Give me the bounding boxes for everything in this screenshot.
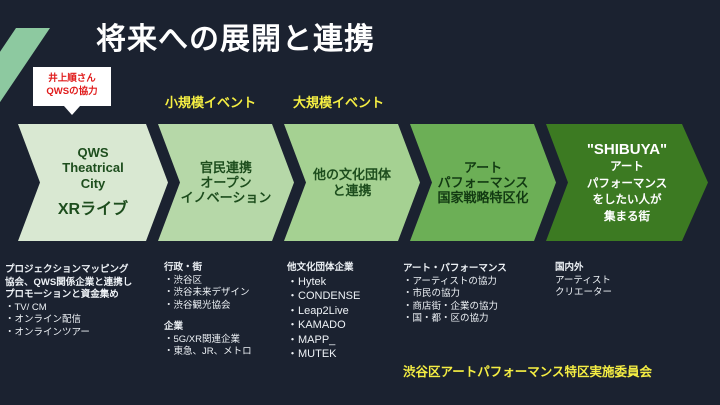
global-line-3: クリエーター xyxy=(555,287,612,300)
list-item: ・KAMADO xyxy=(287,318,360,333)
flow-step-5-line3: パフォーマンス xyxy=(587,178,667,192)
projection-heading-line1: プロジェクションマッピング xyxy=(5,264,132,277)
global-heading: 国内外 xyxy=(555,262,612,275)
flow-step-5-line1: "SHIBUYA" xyxy=(587,141,667,159)
callout-line-2: QWSの協力 xyxy=(37,86,107,99)
companies-heading: 企業 xyxy=(164,321,252,334)
flow-step-1-line2: Theatrical xyxy=(62,160,123,175)
flow-step-cultural-collaboration[interactable]: 他の文化団体 と連携 xyxy=(284,124,420,241)
art-performance-heading: アート・パフォーマンス xyxy=(403,263,507,276)
detail-column-projection-mapping: プロジェクションマッピング 協会、QWS関係企業と連携し プロモーションと資金集… xyxy=(5,264,132,339)
flow-step-5-line5: 集まる街 xyxy=(604,211,650,225)
process-flow: QWS Theatrical City XRライブ 官民連携 オープン イノベー… xyxy=(18,124,708,241)
flow-step-2-line2: オープン xyxy=(200,175,251,190)
list-item: ・オンラインツアー xyxy=(5,327,132,340)
slide-canvas: 将来への展開と連携 小規模イベント 大規模イベント QWS Theatrical… xyxy=(0,0,720,405)
list-item: ・Hytek xyxy=(287,275,360,290)
detail-column-government-and-town: 行政・街 ・渋谷区 ・渋谷未来デザイン ・渋谷観光協会 企業 ・5G/XR関連企… xyxy=(164,262,252,359)
flow-step-5-line4: をしたい人が xyxy=(593,194,662,208)
detail-column-domestic-and-overseas: 国内外 アーティスト クリエーター xyxy=(555,262,612,300)
projection-heading-line2: 協会、QWS関係企業と連携し xyxy=(5,277,132,290)
list-item: ・CONDENSE xyxy=(287,289,360,304)
flow-step-qws-theatrical-city[interactable]: QWS Theatrical City XRライブ xyxy=(18,124,168,241)
list-item: ・市民の協力 xyxy=(403,288,507,301)
flow-step-3-line1: 他の文化団体 xyxy=(313,167,391,182)
global-line-2: アーティスト xyxy=(555,275,612,288)
flow-step-art-performance-zone[interactable]: アート パフォーマンス 国家戦略特区化 xyxy=(410,124,556,241)
callout-line-1: 井上順さん xyxy=(37,73,107,86)
flow-step-shibuya-goal[interactable]: "SHIBUYA" アート パフォーマンス をしたい人が 集まる街 xyxy=(546,124,708,241)
detail-column-cultural-companies: 他文化団体企業 ・Hytek ・CONDENSE ・Leap2Live ・KAM… xyxy=(287,262,360,362)
callout-box-inoue-qws: 井上順さん QWSの協力 xyxy=(33,67,111,106)
page-title: 将来への展開と連携 xyxy=(96,14,375,58)
list-item: ・商店街・企業の協力 xyxy=(403,301,507,314)
event-label-large: 大規模イベント xyxy=(293,92,384,111)
flow-step-1-sub: XRライブ xyxy=(58,201,128,220)
list-item: ・東急、JR、メトロ xyxy=(164,346,252,359)
event-label-small: 小規模イベント xyxy=(165,92,256,111)
list-item: ・渋谷未来デザイン xyxy=(164,287,252,300)
government-heading: 行政・街 xyxy=(164,262,252,275)
flow-step-open-innovation[interactable]: 官民連携 オープン イノベーション xyxy=(158,124,294,241)
list-item: ・アーティストの協力 xyxy=(403,276,507,289)
flow-step-4-line2: パフォーマンス xyxy=(438,175,529,190)
flow-step-1-line1: QWS xyxy=(77,145,108,160)
flow-step-5-line2: アート xyxy=(610,161,644,175)
flow-step-4-line3: 国家戦略特区化 xyxy=(437,190,528,205)
list-item: ・MUTEK xyxy=(287,347,360,362)
list-item: ・MAPP_ xyxy=(287,333,360,348)
list-item: ・TV/ CM xyxy=(5,302,132,315)
flow-step-4-line1: アート xyxy=(464,160,502,175)
list-item: ・渋谷観光協会 xyxy=(164,300,252,313)
projection-heading-line3: プロモーションと資金集め xyxy=(5,289,132,302)
spacer xyxy=(164,312,252,321)
list-item: ・5G/XR関連企業 xyxy=(164,334,252,347)
callout-tail-pointer xyxy=(64,106,80,115)
list-item: ・渋谷区 xyxy=(164,275,252,288)
flow-step-2-line3: イノベーション xyxy=(181,190,272,205)
list-item: ・オンライン配信 xyxy=(5,314,132,327)
list-item: ・Leap2Live xyxy=(287,304,360,319)
committee-label: 渋谷区アートパフォーマンス特区実施委員会 xyxy=(403,361,652,380)
flow-step-2-line1: 官民連携 xyxy=(200,160,252,175)
list-item: ・国・都・区の協力 xyxy=(403,313,507,326)
culture-heading: 他文化団体企業 xyxy=(287,262,360,275)
flow-step-3-line2: と連携 xyxy=(332,183,371,198)
detail-column-art-performance: アート・パフォーマンス ・アーティストの協力 ・市民の協力 ・商店街・企業の協力… xyxy=(403,263,507,326)
flow-step-1-line3: City xyxy=(81,176,106,191)
